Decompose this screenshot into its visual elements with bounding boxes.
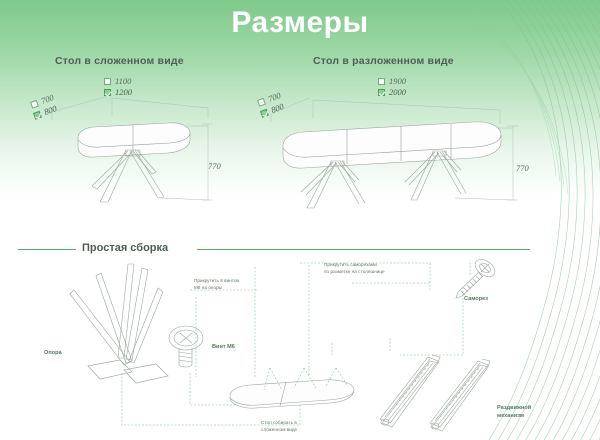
page-title: Размеры: [0, 6, 600, 40]
label-mechanism: Раздвижной механизм: [497, 405, 531, 421]
checkbox-checked-icon[interactable]: [378, 89, 385, 96]
checkbox-checked-icon[interactable]: [33, 110, 42, 119]
note-bolts: Прикрутить 8 винтов М6 на опоры: [194, 278, 239, 291]
checkbox-unchecked-icon[interactable]: [104, 78, 111, 85]
label-support: Опора: [44, 350, 62, 358]
label-bolt: Винт М6: [212, 344, 235, 352]
instruction-page: Размеры Стол в сложенном виде 1100 1200 …: [0, 0, 600, 440]
assembly-section-header: Простая сборка: [0, 240, 600, 260]
slide-mechanism-drawing: [372, 345, 510, 437]
checkbox-unchecked-icon[interactable]: [257, 97, 266, 106]
open-width-option-1[interactable]: 2000: [378, 87, 406, 97]
note-assemble-folded: Стол собирать в сложенном виде: [261, 420, 297, 433]
section-title-assembly: Простая сборка: [82, 242, 168, 254]
rule-left: [18, 249, 76, 250]
checkbox-checked-icon[interactable]: [260, 108, 269, 117]
folded-width-option-0[interactable]: 1100: [104, 76, 131, 86]
open-height-label: 770: [516, 163, 529, 173]
bolt-m6-drawing: [166, 324, 212, 372]
section-title-folded: Стол в сложенном виде: [55, 55, 184, 67]
section-title-open: Стол в разложенном виде: [313, 55, 454, 67]
open-table-drawing: [255, 88, 545, 210]
folded-table-drawing: [30, 90, 235, 210]
note-screws: Прикрутить саморезами по разметке на сто…: [324, 262, 385, 275]
checkbox-unchecked-icon[interactable]: [378, 78, 385, 85]
checkbox-unchecked-icon[interactable]: [30, 99, 39, 108]
tabletop-assembly-drawing: [218, 368, 364, 420]
folded-height-label: 770: [208, 161, 221, 171]
open-width-option-0[interactable]: 1900: [378, 76, 406, 86]
folded-width-option-1[interactable]: 1200: [104, 87, 132, 97]
checkbox-checked-icon[interactable]: [104, 89, 111, 96]
rule-right: [197, 249, 530, 250]
label-screw: Саморез: [464, 296, 488, 304]
